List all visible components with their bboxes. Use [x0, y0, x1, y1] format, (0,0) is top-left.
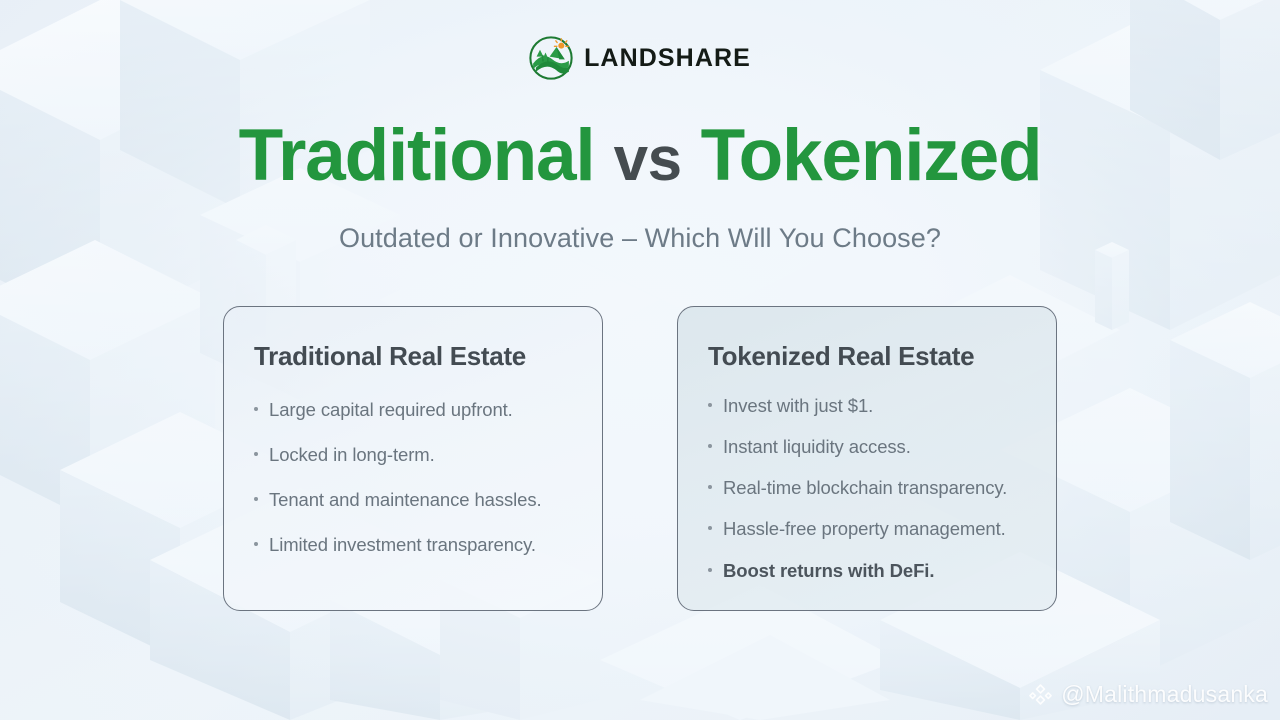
bullet-text: Locked in long-term. [269, 443, 435, 466]
list-item: Boost returns with DeFi. [708, 559, 1026, 582]
title-part-vs: vs [614, 125, 682, 194]
bullet-text: Hassle-free property management. [723, 517, 1006, 540]
bullet-list-traditional: Large capital required upfront. Locked i… [254, 398, 572, 557]
page-title: Traditional vs Tokenized [0, 118, 1280, 195]
list-item: Locked in long-term. [254, 443, 572, 466]
brand-logo: LANDSHARE [0, 36, 1280, 80]
brand-wordmark: LANDSHARE [584, 44, 751, 73]
bullet-dot-icon [254, 542, 258, 546]
bullet-dot-icon [708, 568, 712, 572]
list-item: Hassle-free property management. [708, 517, 1026, 540]
diamond-cluster-icon [1028, 682, 1053, 707]
bullet-text: Tenant and maintenance hassles. [269, 488, 542, 511]
bullet-text: Instant liquidity access. [723, 435, 911, 458]
page-subtitle: Outdated or Innovative – Which Will You … [0, 223, 1280, 254]
bullet-list-tokenized: Invest with just $1. Instant liquidity a… [708, 394, 1026, 582]
card-tokenized-real-estate: Tokenized Real Estate Invest with just $… [677, 306, 1057, 611]
title-part-tokenized: Tokenized [701, 115, 1042, 196]
watermark: @Malithmadusanka [1028, 681, 1268, 708]
bullet-dot-icon [708, 485, 712, 489]
bullet-dot-icon [708, 526, 712, 530]
list-item: Large capital required upfront. [254, 398, 572, 421]
list-item: Invest with just $1. [708, 394, 1026, 417]
bullet-text: Invest with just $1. [723, 394, 873, 417]
card-title-traditional: Traditional Real Estate [254, 341, 572, 372]
title-part-traditional: Traditional [239, 115, 595, 196]
watermark-handle: @Malithmadusanka [1061, 681, 1268, 708]
list-item: Limited investment transparency. [254, 533, 572, 556]
bullet-dot-icon [254, 407, 258, 411]
list-item: Real-time blockchain transparency. [708, 476, 1026, 499]
slide-canvas: LANDSHARE Traditional vs Tokenized Outda… [0, 0, 1280, 720]
card-title-tokenized: Tokenized Real Estate [708, 341, 1026, 372]
bullet-dot-icon [254, 497, 258, 501]
bullet-text: Real-time blockchain transparency. [723, 476, 1007, 499]
card-traditional-real-estate: Traditional Real Estate Large capital re… [223, 306, 603, 611]
bullet-text: Boost returns with DeFi. [723, 559, 934, 582]
list-item: Tenant and maintenance hassles. [254, 488, 572, 511]
list-item: Instant liquidity access. [708, 435, 1026, 458]
bullet-dot-icon [708, 403, 712, 407]
comparison-cards: Traditional Real Estate Large capital re… [0, 306, 1280, 611]
bullet-dot-icon [254, 452, 258, 456]
bullet-text: Limited investment transparency. [269, 533, 536, 556]
bullet-text: Large capital required upfront. [269, 398, 513, 421]
bullet-dot-icon [708, 444, 712, 448]
landshare-circle-landscape-icon [529, 36, 573, 80]
